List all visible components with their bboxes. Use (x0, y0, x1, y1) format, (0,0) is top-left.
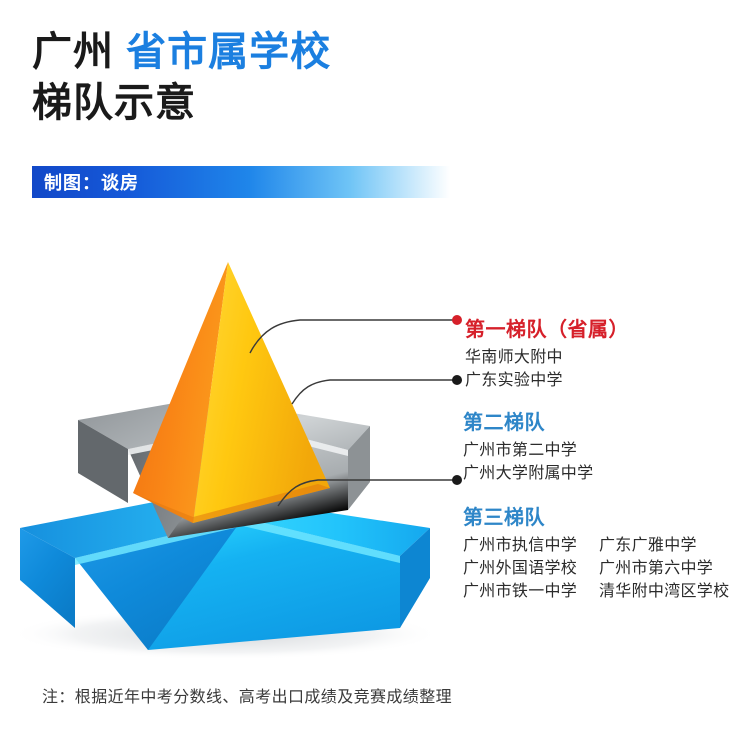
tier-3-school-3: 广州外国语学校 (463, 557, 589, 580)
tier-2-callout[interactable]: 第二梯队 广州市第二中学 广州大学附属中学 (463, 411, 593, 485)
tier-3-school-6: 清华附中湾区学校 (599, 580, 729, 603)
leader-line-tier-1 (250, 320, 455, 353)
leader-dot-tier-2 (452, 375, 462, 385)
page-title-city: 广州 (32, 30, 114, 74)
page-title-line-2: 梯队示意 (32, 79, 632, 128)
byline-text: 制图：谈房 (32, 169, 139, 195)
leader-dot-tier-3 (452, 475, 462, 485)
leader-line-tier-2 (292, 380, 455, 404)
tier-2-school-2: 广州大学附属中学 (463, 462, 593, 485)
tier-3-callout[interactable]: 第三梯队 广州市执信中学 广东广雅中学 广州外国语学校 广州市第六中学 广州市铁… (463, 506, 729, 604)
tier-3-school-row: 广州市执信中学 广东广雅中学 (463, 534, 729, 557)
tier-3-school-row: 广州市铁一中学 清华附中湾区学校 (463, 580, 729, 603)
page-title-line-1: 广州 省市属学校 (32, 28, 632, 77)
tier-2-school-1: 广州市第二中学 (463, 439, 593, 462)
tier-1-school-1: 华南师大附中 (465, 346, 629, 369)
page-header: 广州 省市属学校 梯队示意 (32, 28, 632, 128)
tier-3-school-row: 广州外国语学校 广州市第六中学 (463, 557, 729, 580)
tier-3-heading: 第三梯队 (463, 506, 729, 531)
byline-bar: 制图：谈房 (32, 166, 450, 198)
page-title-category: 省市属学校 (126, 30, 331, 74)
pyramid-diagram (0, 238, 470, 658)
tier-1-school-2: 广东实验中学 (465, 369, 629, 392)
tier-1-callout[interactable]: 第一梯队（省属） 华南师大附中 广东实验中学 (465, 318, 629, 392)
tier-2-heading: 第二梯队 (463, 411, 593, 436)
tier-3-school-4: 广州市第六中学 (599, 557, 713, 580)
tier-3-school-1: 广州市执信中学 (463, 534, 589, 557)
leader-dot-tier-1 (452, 315, 462, 325)
tier-1-heading: 第一梯队（省属） (465, 318, 629, 343)
tier-3-school-5: 广州市铁一中学 (463, 580, 589, 603)
footnote: 注：根据近年中考分数线、高考出口成绩及竞赛成绩整理 (42, 683, 452, 707)
tier-3-school-2: 广东广雅中学 (599, 534, 697, 557)
